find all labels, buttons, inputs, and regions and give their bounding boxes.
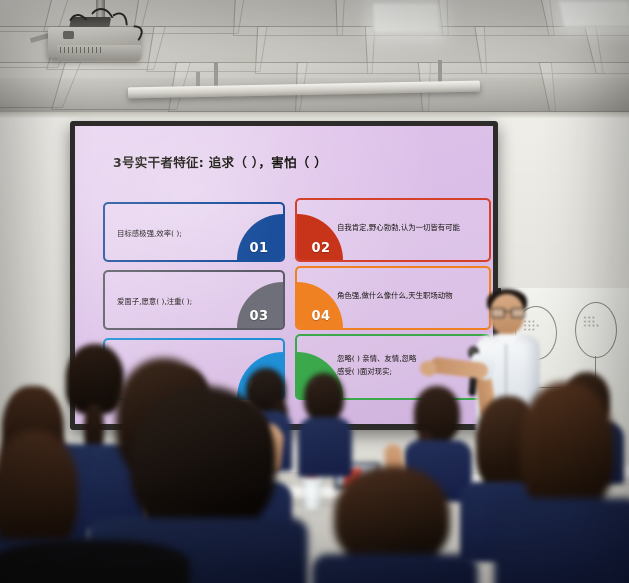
student-foreground [330, 466, 460, 583]
student-hair [334, 466, 450, 566]
glasses-lens-left [491, 308, 505, 318]
classroom-photo: ＊＊＊＊＊＊＊＊＊＊ ＊＊＊＊＊＊＊＊＊＊ 3号实干者特征: 追求（ ），害怕（… [0, 0, 629, 583]
slide-card-04-badge: 04 [297, 282, 343, 328]
glasses-bridge [503, 311, 511, 312]
student [300, 373, 350, 465]
foreground-shadow [0, 540, 190, 583]
whiteboard-diagram-circle [575, 302, 617, 358]
slide-card-03: 爱面子,愿意( ),注重( ); 03 [103, 270, 285, 330]
student-hair [304, 373, 344, 421]
student-hair [0, 430, 78, 554]
student-uniform [494, 498, 629, 583]
slide-card-04-text: 角色强,做什么像什么,天生职场动物 [337, 290, 487, 301]
slide-card-04-number: 04 [309, 309, 330, 328]
slide-card-02: 自我肯定,野心勃勃,认为一切皆有可能 02 [295, 198, 491, 262]
whiteboard-text: ＊＊＊＊＊＊＊＊＊＊ [583, 316, 609, 328]
ceiling-light-panel [371, 2, 441, 34]
slide-card-03-number: 03 [249, 309, 270, 328]
student-uniform [312, 554, 478, 583]
student-hair [520, 382, 614, 514]
student-foreground [508, 382, 626, 583]
slide-card-02-badge: 02 [297, 214, 343, 260]
slide-title: 3号实干者特征: 追求（ ），害怕（ ） [113, 152, 327, 171]
slide-card-01-number: 01 [249, 241, 270, 260]
slide-card-04: 角色强,做什么像什么,天生职场动物 04 [295, 266, 491, 330]
ceiling-light-panel [557, 0, 629, 28]
slide-card-02-text: 自我肯定,野心勃勃,认为一切皆有可能 [337, 222, 487, 233]
glasses-icon [491, 308, 523, 316]
wall-ceiling-joint [0, 112, 629, 118]
student-hair [130, 386, 276, 536]
slide-card-01: 目标感极强,效率( ); 01 [103, 202, 285, 262]
glasses-lens-right [511, 308, 525, 318]
slide-card-01-badge: 01 [237, 214, 283, 260]
slide-card-03-badge: 03 [237, 282, 283, 328]
projector-vents [60, 47, 104, 53]
slide-card-02-number: 02 [309, 241, 330, 260]
